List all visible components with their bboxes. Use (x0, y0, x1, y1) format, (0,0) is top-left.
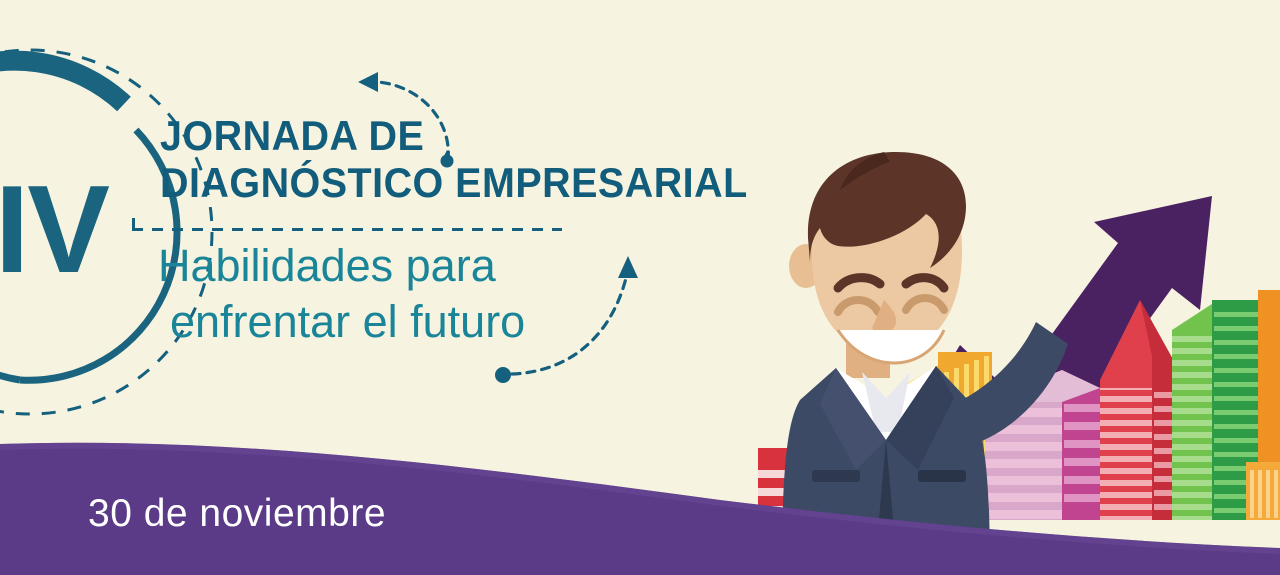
subtitle-line-1: Habilidades para (158, 238, 718, 294)
arc-ring-thin-lower (0, 330, 20, 380)
title-line-2: DIAGNÓSTICO EMPRESARIAL (160, 159, 762, 206)
event-date: 30 de noviembre (88, 492, 386, 536)
dashed-divider-line (132, 228, 562, 231)
title-line-1: JORNADA DE (160, 112, 762, 159)
arc-ring-thick (0, 61, 124, 104)
edition-numeral: IV (0, 168, 108, 292)
event-subtitle: Habilidades para enfrentar el futuro (158, 238, 718, 351)
event-title: JORNADA DE DIAGNÓSTICO EMPRESARIAL (160, 112, 800, 206)
subtitle-line-2: enfrentar el futuro (158, 294, 718, 350)
building-orange-small (1246, 462, 1280, 520)
event-banner: IV JORNADA DE DIAGNÓSTICO EMPRESARIAL Ha… (0, 0, 1280, 575)
